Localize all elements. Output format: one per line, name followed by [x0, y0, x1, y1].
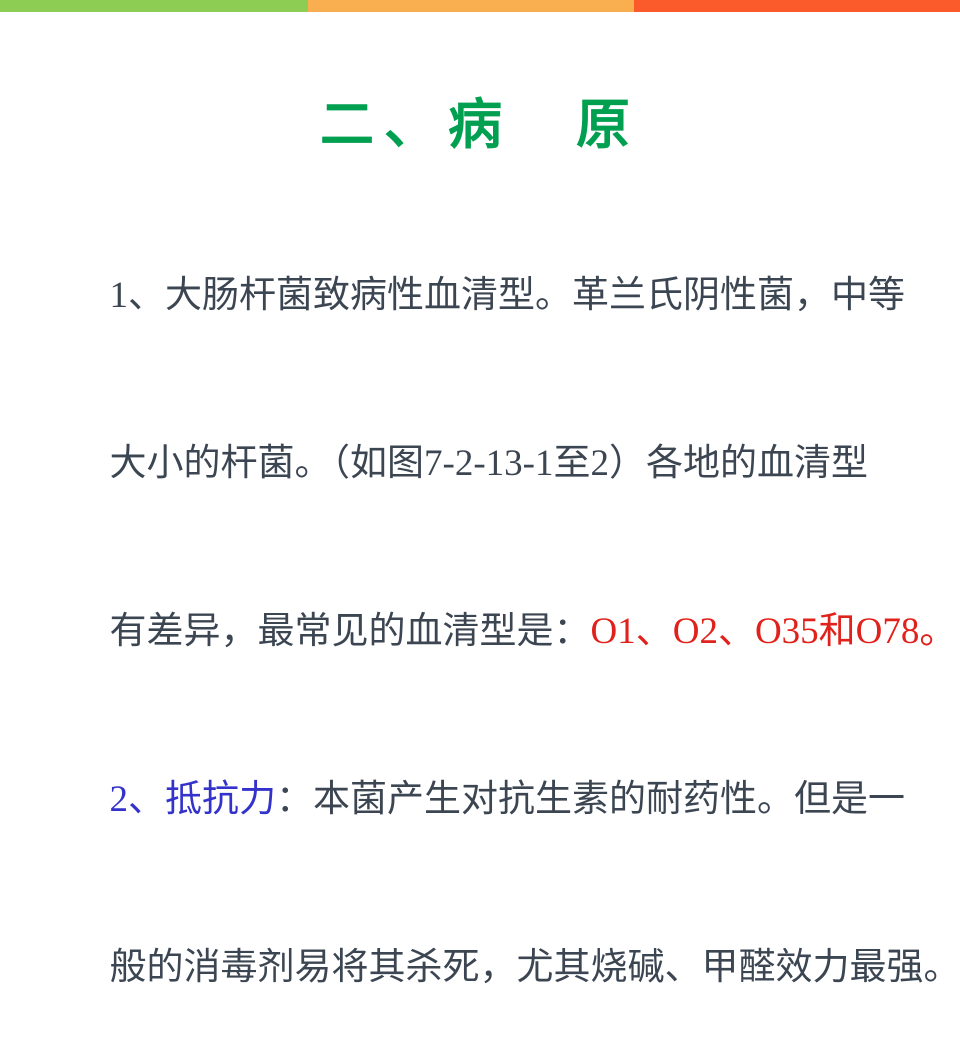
- presentation-slide: 二、病 原 1、大肠杆菌致病性血清型。革兰氏阴性菌，中等 大小的杆菌。（如图7-…: [0, 0, 960, 720]
- slide-title: 二、病 原: [0, 96, 960, 155]
- body-line-5-text: 般的消毒剂易将其杀死，尤其烧碱、甲醛效力最强。: [110, 947, 960, 988]
- slide-body-content: 1、大肠杆菌致病性血清型。革兰氏阴性菌，中等 大小的杆菌。（如图7-2-13-1…: [54, 212, 916, 1052]
- body-line-2: 大小的杆菌。（如图7-2-13-1至2）各地的血清型: [54, 380, 916, 548]
- resistance-heading: 2、抵抗力: [110, 779, 277, 820]
- decorative-top-color-bar: [0, 0, 960, 12]
- serotype-highlight: O1、O2、O35和O78。: [591, 611, 957, 652]
- orange-segment: [308, 0, 634, 12]
- body-line-4: 2、抵抗力：本菌产生对抗生素的耐药性。但是一: [54, 716, 916, 884]
- body-line-4-text: ：本菌产生对抗生素的耐药性。但是一: [276, 779, 905, 820]
- body-line-2-text: 大小的杆菌。（如图7-2-13-1至2）各地的血清型: [110, 443, 868, 484]
- body-line-1: 1、大肠杆菌致病性血清型。革兰氏阴性菌，中等: [54, 212, 916, 380]
- red-segment: [634, 0, 960, 12]
- body-line-5: 般的消毒剂易将其杀死，尤其烧碱、甲醛效力最强。: [54, 884, 916, 1052]
- body-line-3: 有差异，最常见的血清型是：O1、O2、O35和O78。: [54, 548, 916, 716]
- body-line-1-text: 1、大肠杆菌致病性血清型。革兰氏阴性菌，中等: [110, 275, 906, 316]
- body-line-3-prefix: 有差异，最常见的血清型是：: [110, 611, 591, 652]
- green-segment: [0, 0, 308, 12]
